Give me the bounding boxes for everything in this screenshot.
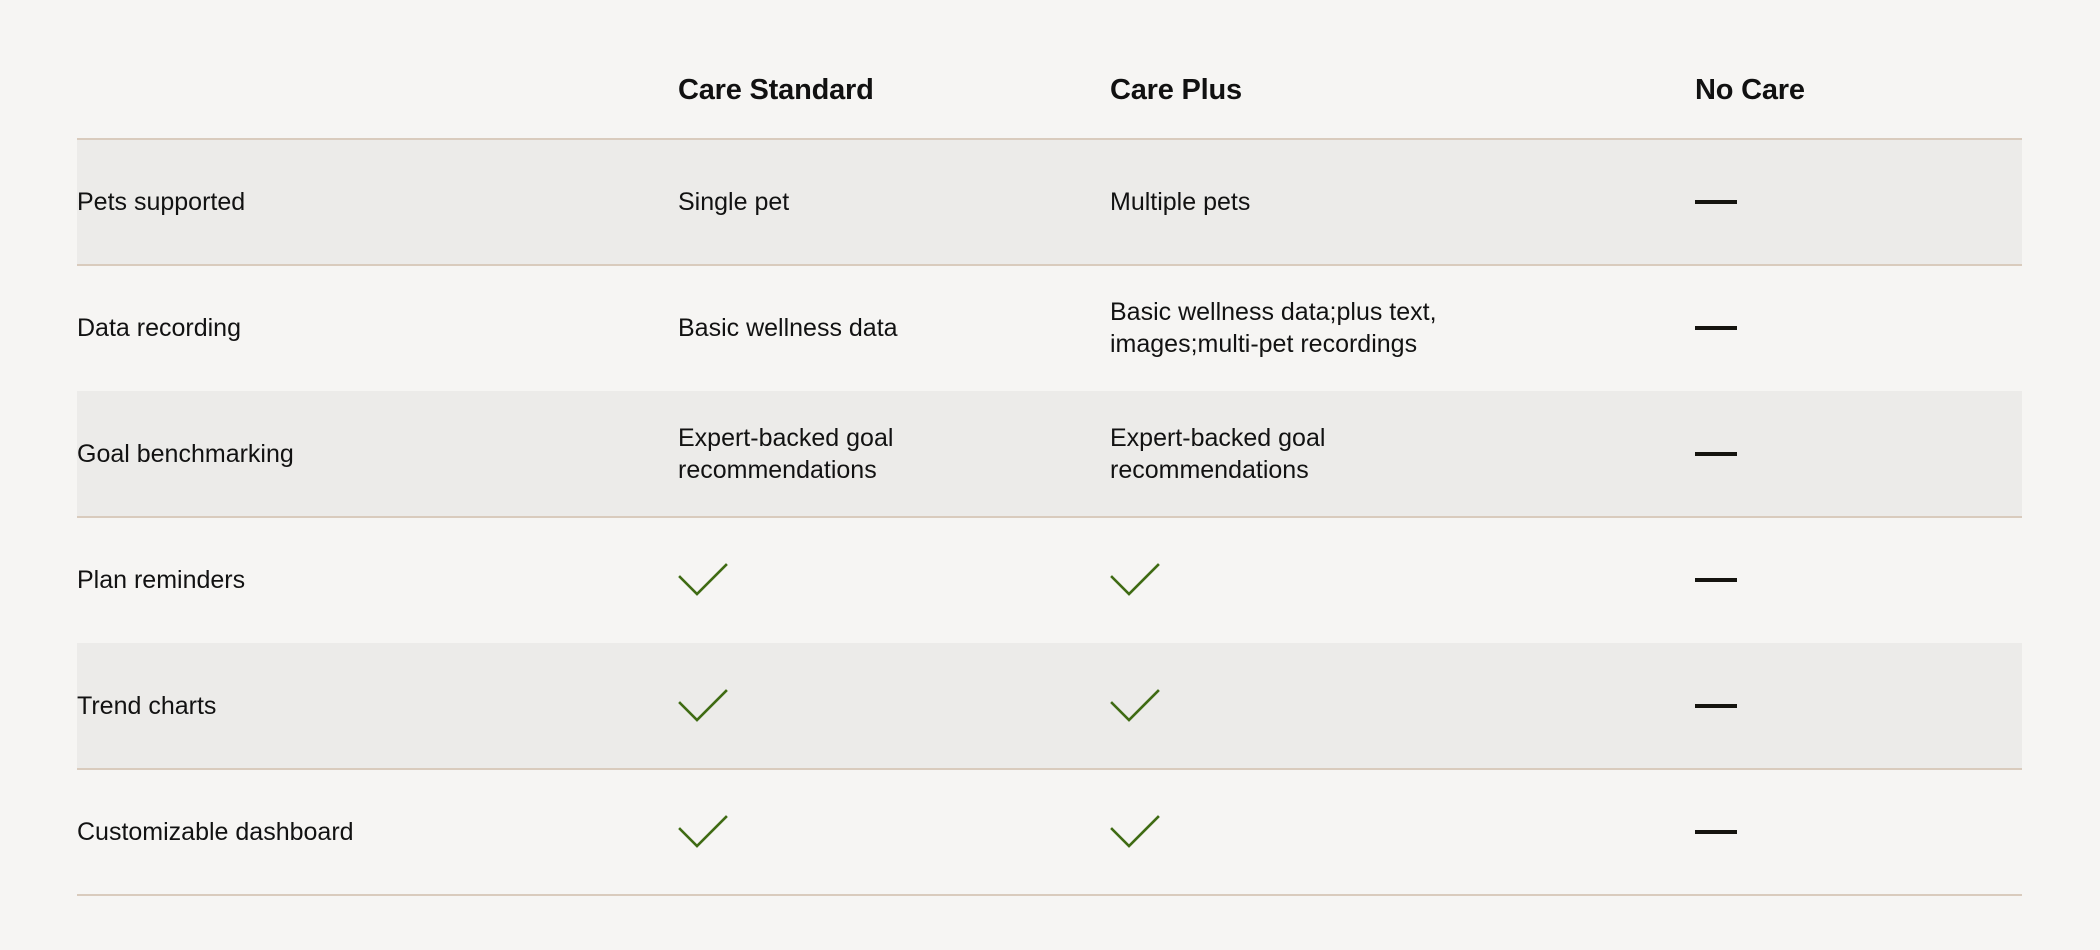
plan-comparison-section: Care Standard Care Plus No Care Pets sup… [0, 0, 2100, 950]
feature-label-cell: Data recording [77, 265, 678, 391]
table-row: Trend charts [77, 643, 2022, 769]
table-row: Data recording Basic wellness data Basic… [77, 265, 2022, 391]
table-body: Pets supported Single pet Multiple pets … [77, 139, 2022, 895]
value-text: Single pet [678, 188, 789, 216]
feature-label-cell: Plan reminders [77, 517, 678, 643]
column-header-care-plus-label: Care Plus [1110, 32, 1695, 107]
feature-label-cell: Customizable dashboard [77, 769, 678, 895]
dash-icon [1695, 200, 1737, 204]
table-row: Customizable dashboard [77, 769, 2022, 895]
value-cell-care-plus [1110, 643, 1695, 769]
dash-icon [1695, 326, 1737, 330]
feature-label: Customizable dashboard [77, 818, 354, 846]
feature-label: Trend charts [77, 692, 216, 720]
table-row: Goal benchmarking Expert-backed goal rec… [77, 391, 2022, 517]
column-header-feature-label [77, 48, 678, 90]
plan-comparison-table: Care Standard Care Plus No Care Pets sup… [77, 0, 2022, 896]
value-cell-care-standard [678, 769, 1110, 895]
table-row: Pets supported Single pet Multiple pets [77, 139, 2022, 265]
value-cell-no-care [1695, 391, 2022, 517]
column-header-feature [77, 0, 678, 139]
value-cell-care-plus: Basic wellness data;plus text, images;mu… [1110, 265, 1695, 391]
value-cell-care-plus: Multiple pets [1110, 139, 1695, 265]
value-cell-no-care [1695, 643, 2022, 769]
value-cell-no-care [1695, 769, 2022, 895]
feature-label: Plan reminders [77, 566, 245, 594]
dash-icon [1695, 578, 1737, 582]
dash-icon [1695, 704, 1737, 708]
value-cell-care-standard: Single pet [678, 139, 1110, 265]
feature-label: Data recording [77, 314, 241, 342]
feature-label: Pets supported [77, 188, 245, 216]
column-header-no-care: No Care [1695, 0, 2022, 139]
value-text: Expert-backed goal recommendations [1110, 424, 1325, 484]
value-cell-care-standard: Basic wellness data [678, 265, 1110, 391]
value-cell-care-standard [678, 517, 1110, 643]
value-cell-no-care [1695, 517, 2022, 643]
value-cell-care-standard: Expert-backed goal recommendations [678, 391, 1110, 517]
feature-label: Goal benchmarking [77, 440, 294, 468]
value-cell-no-care [1695, 139, 2022, 265]
feature-label-cell: Trend charts [77, 643, 678, 769]
column-header-care-plus: Care Plus [1110, 0, 1695, 139]
dash-icon [1695, 452, 1737, 456]
check-icon [1110, 689, 1160, 723]
dash-icon [1695, 830, 1737, 834]
column-header-care-standard-label: Care Standard [678, 32, 1110, 107]
table-header: Care Standard Care Plus No Care [77, 0, 2022, 139]
check-icon [678, 689, 728, 723]
value-cell-care-standard [678, 643, 1110, 769]
column-header-care-standard: Care Standard [678, 0, 1110, 139]
value-text: Basic wellness data;plus text, images;mu… [1110, 298, 1437, 358]
value-text: Multiple pets [1110, 188, 1250, 216]
check-icon [1110, 815, 1160, 849]
value-text: Expert-backed goal recommendations [678, 424, 893, 484]
check-icon [678, 815, 728, 849]
feature-label-cell: Pets supported [77, 139, 678, 265]
table-row: Plan reminders [77, 517, 2022, 643]
value-cell-no-care [1695, 265, 2022, 391]
check-icon [1110, 563, 1160, 597]
table-header-row: Care Standard Care Plus No Care [77, 0, 2022, 139]
value-cell-care-plus: Expert-backed goal recommendations [1110, 391, 1695, 517]
check-icon [678, 563, 728, 597]
column-header-no-care-label: No Care [1695, 32, 2022, 107]
feature-label-cell: Goal benchmarking [77, 391, 678, 517]
value-cell-care-plus [1110, 517, 1695, 643]
value-cell-care-plus [1110, 769, 1695, 895]
value-text: Basic wellness data [678, 314, 898, 342]
